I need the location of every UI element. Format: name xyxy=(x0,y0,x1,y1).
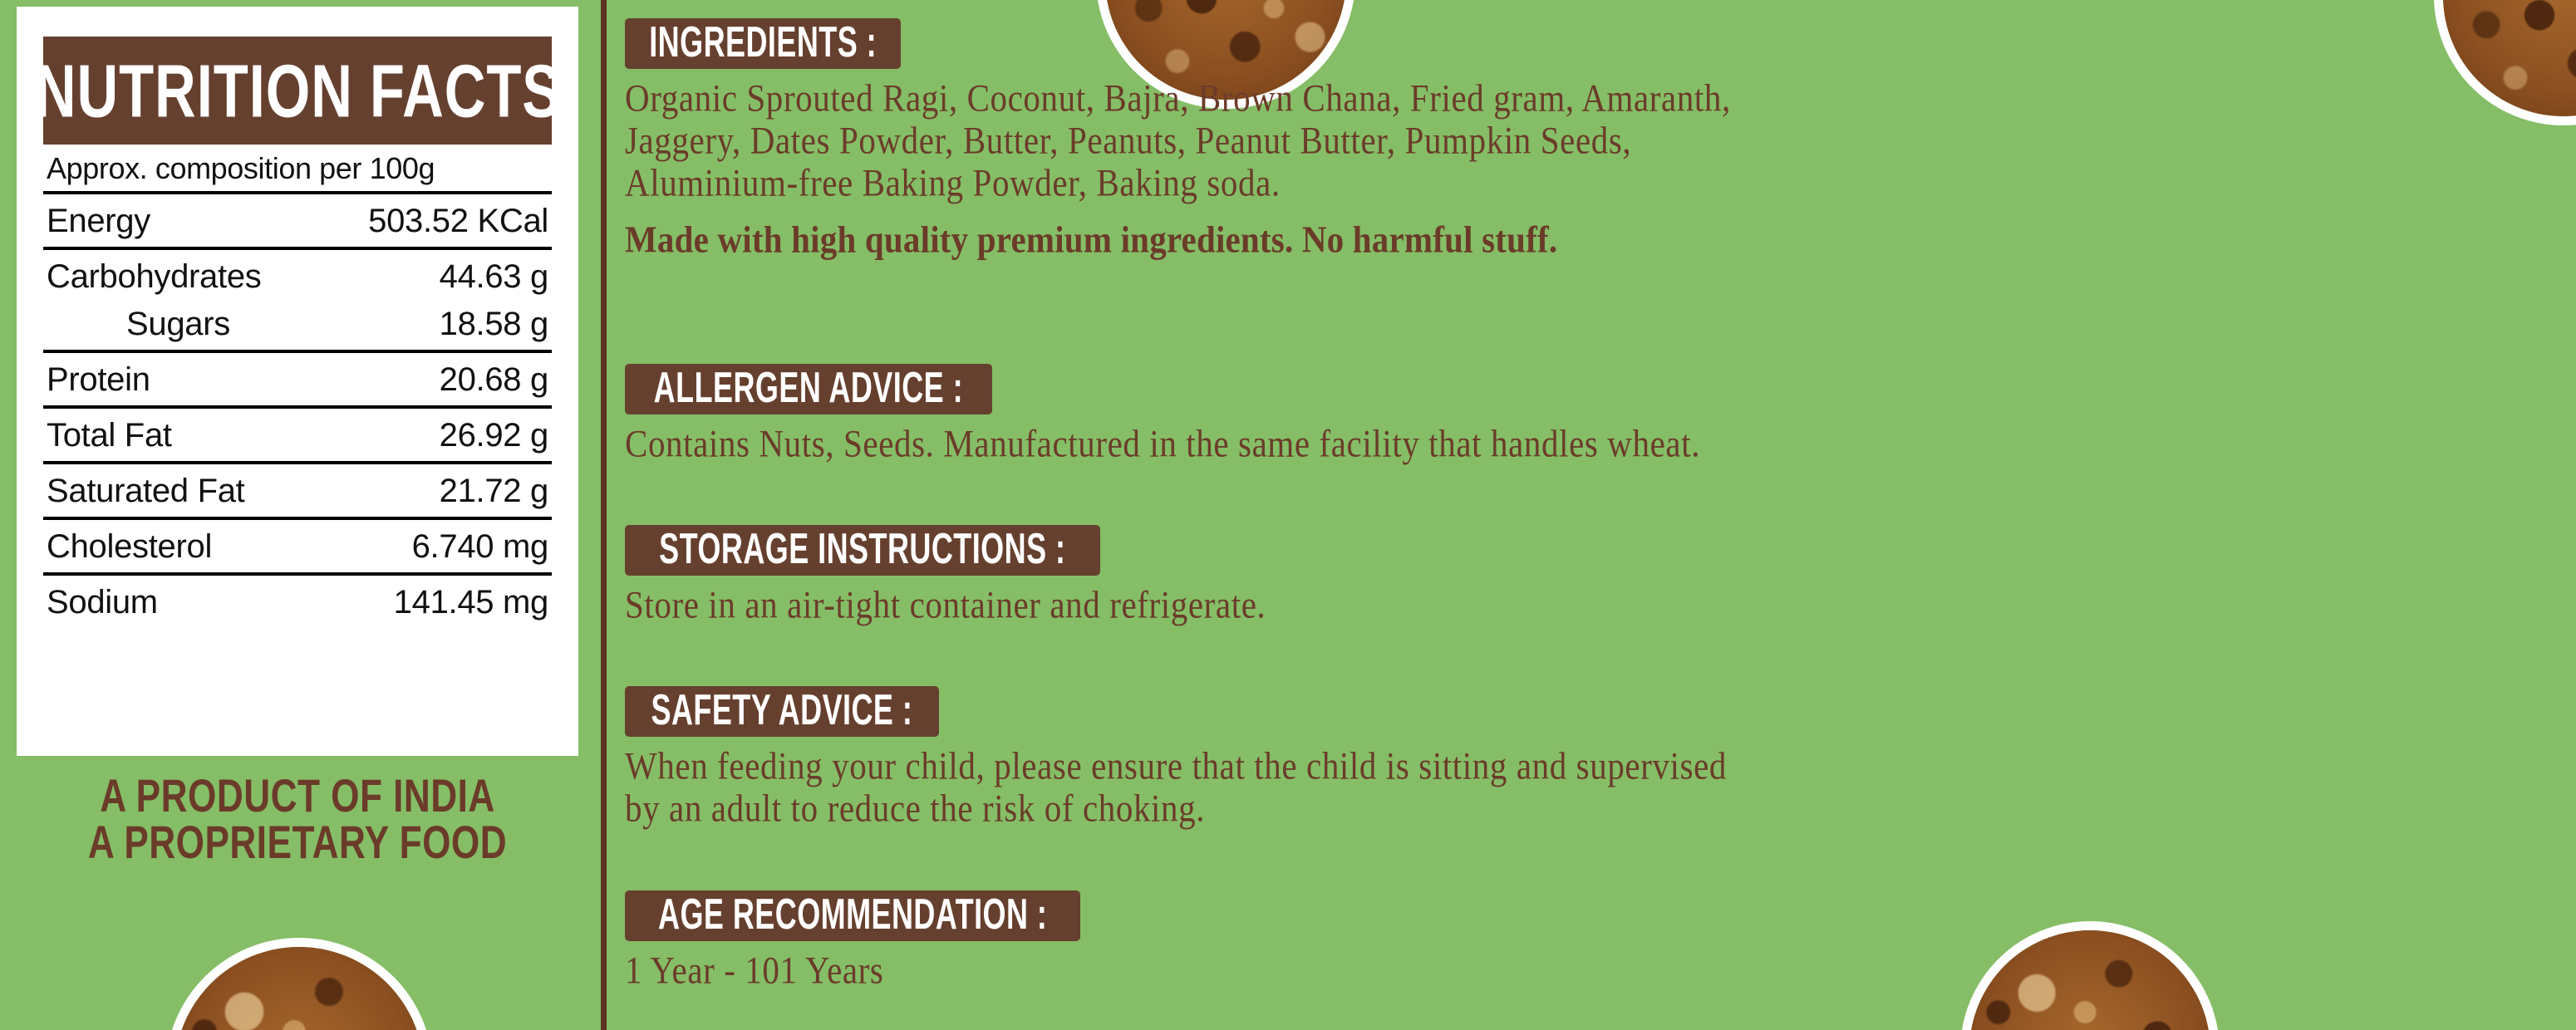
allergen-line-1: Contains Nuts, Seeds. Manufactured in th… xyxy=(625,419,1700,468)
section-storage-instructions: STORAGE INSTRUCTIONS : Store in an air-t… xyxy=(625,525,1266,623)
nutrition-subtitle: Approx. composition per 100g xyxy=(43,145,552,194)
nutrient-label: Energy xyxy=(47,203,150,240)
safety-line-2: by an adult to reduce the risk of chokin… xyxy=(625,784,1727,832)
ingredients-line-3: Aluminium-free Baking Powder, Baking sod… xyxy=(625,159,1731,207)
section-ingredients: INGREDIENTS : Organic Sprouted Ragi, Coc… xyxy=(625,18,1731,258)
section-tag-storage-instructions: STORAGE INSTRUCTIONS : xyxy=(625,525,1100,576)
ingredients-line-1: Organic Sprouted Ragi, Coconut, Bajra, B… xyxy=(625,74,1731,122)
section-safety-advice: SAFETY ADVICE : When feeding your child,… xyxy=(625,686,1727,826)
nutrient-label: Protein xyxy=(47,361,150,399)
storage-line-1: Store in an air-tight container and refr… xyxy=(625,581,1266,629)
table-row-energy: Energy 503.52 KCal xyxy=(43,194,552,250)
table-row-sodium: Sodium 141.45 mg xyxy=(43,576,552,623)
section-body-allergen-advice: Contains Nuts, Seeds. Manufactured in th… xyxy=(625,419,1700,462)
proprietary-food-text: A PROPRIETARY FOOD xyxy=(33,815,561,870)
age-line-1: 1 Year - 101 Years xyxy=(625,946,1080,994)
nutrient-label: Total Fat xyxy=(47,417,172,454)
nutrient-value: 20.68 g xyxy=(440,361,548,399)
nutrient-value: 21.72 g xyxy=(440,473,548,510)
safety-line-1: When feeding your child, please ensure t… xyxy=(625,742,1727,790)
product-info-panel: INGREDIENTS : Organic Sprouted Ragi, Coc… xyxy=(625,0,2561,1030)
nutrition-facts-title-bar: NUTRITION FACTS xyxy=(43,37,552,145)
nutrient-label: Carbohydrates xyxy=(47,258,261,296)
nutrient-label: Saturated Fat xyxy=(47,473,244,510)
nutrient-label: Sodium xyxy=(47,584,158,621)
table-row-carbohydrates: Carbohydrates 44.63 g xyxy=(43,250,552,297)
section-age-recommendation: AGE RECOMMENDATION : 1 Year - 101 Years xyxy=(625,890,1080,988)
section-allergen-advice: ALLERGEN ADVICE : Contains Nuts, Seeds. … xyxy=(625,364,1700,462)
quality-claim-text: Made with high quality premium ingredien… xyxy=(625,216,1731,263)
ingredients-line-2: Jaggery, Dates Powder, Butter, Peanuts, … xyxy=(625,116,1731,164)
nutrient-value: 26.92 g xyxy=(440,417,548,454)
section-tag-allergen-advice: ALLERGEN ADVICE : xyxy=(625,364,992,414)
nutrient-value: 18.58 g xyxy=(440,306,548,343)
section-tag-ingredients: INGREDIENTS : xyxy=(625,18,901,69)
nutrition-label-panel: NUTRITION FACTS Approx. composition per … xyxy=(0,0,2576,1030)
table-row-sugars: Sugars 18.58 g xyxy=(43,297,552,353)
section-tag-age-recommendation: AGE RECOMMENDATION : xyxy=(625,890,1080,941)
nutrient-label: Sugars xyxy=(47,306,230,343)
nutrient-value: 6.740 mg xyxy=(412,528,548,566)
table-row-total-fat: Total Fat 26.92 g xyxy=(43,409,552,464)
nutrient-value: 44.63 g xyxy=(440,258,548,296)
nutrient-value: 141.45 mg xyxy=(394,584,548,621)
cookie-image-bottom-left xyxy=(175,947,424,1030)
section-body-safety-advice: When feeding your child, please ensure t… xyxy=(625,742,1727,826)
table-row-protein: Protein 20.68 g xyxy=(43,353,552,409)
product-origin-block: A PRODUCT OF INDIA A PROPRIETARY FOOD xyxy=(17,772,578,866)
section-body-age-recommendation: 1 Year - 101 Years xyxy=(625,946,1080,988)
nutrition-facts-card: NUTRITION FACTS Approx. composition per … xyxy=(17,7,578,756)
page-title: NUTRITION FACTS xyxy=(34,47,560,134)
section-body-ingredients: Organic Sprouted Ragi, Coconut, Bajra, B… xyxy=(625,74,1731,258)
nutrient-label: Cholesterol xyxy=(47,528,212,566)
section-body-storage-instructions: Store in an air-tight container and refr… xyxy=(625,581,1266,623)
table-row-saturated-fat: Saturated Fat 21.72 g xyxy=(43,464,552,520)
panel-divider xyxy=(601,0,607,1030)
table-row-cholesterol: Cholesterol 6.740 mg xyxy=(43,520,552,576)
nutrient-value: 503.52 KCal xyxy=(368,203,548,240)
section-tag-safety-advice: SAFETY ADVICE : xyxy=(625,686,939,737)
